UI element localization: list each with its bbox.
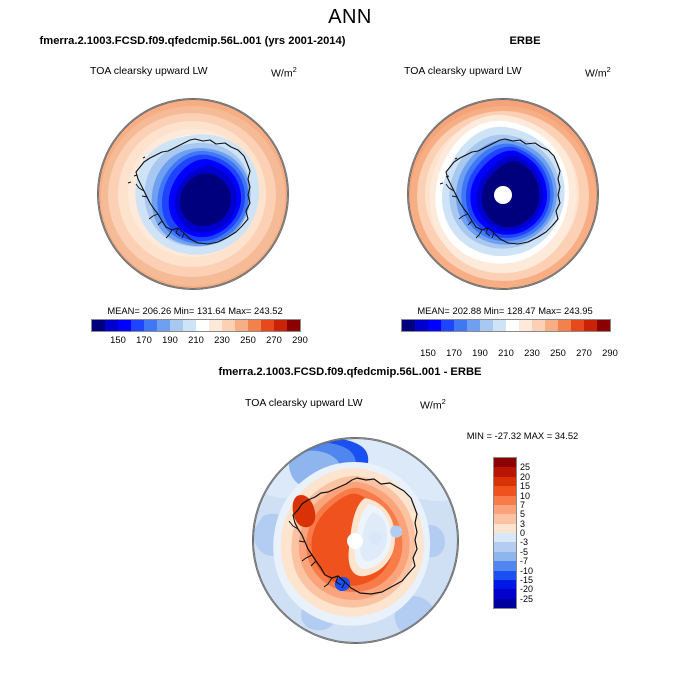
- colorbar-swatch: [441, 320, 454, 331]
- colorbar-swatch: [209, 320, 222, 331]
- units-label-difference: W/m2: [420, 397, 446, 412]
- colorbar-swatch: [274, 320, 287, 331]
- panel-title-difference: fmerra.2.1003.FCSD.f09.qfedcmip.56L.001 …: [0, 366, 700, 378]
- tick-label: 290: [292, 334, 308, 345]
- colorbar-swatch: [494, 580, 516, 589]
- pole-data-gap: [347, 533, 363, 549]
- tick-label: 150: [420, 347, 436, 358]
- tick-label: 170: [136, 334, 152, 345]
- units-text-model: W/m: [271, 68, 293, 80]
- units-exponent-obs: 2: [607, 65, 611, 74]
- panel-title-model: fmerra.2.1003.FCSD.f09.qfedcmip.56L.001 …: [0, 35, 385, 47]
- polar-map-difference[interactable]: [253, 438, 458, 643]
- colorbar-ticks-obs: 150 170 190 210 230 250 270 290: [402, 347, 610, 360]
- colorbar-swatch: [494, 589, 516, 598]
- colorbar-swatch: [261, 320, 274, 331]
- colorbar-swatch: [532, 320, 545, 331]
- stats-difference: MIN = -27.32 MAX = 34.52: [435, 430, 610, 441]
- units-exponent-difference: 2: [442, 397, 446, 406]
- tick-label: 270: [266, 334, 282, 345]
- colorbar-swatch: [494, 542, 516, 551]
- colorbar-swatch: [584, 320, 597, 331]
- variable-label-model: TOA clearsky upward LW: [90, 65, 207, 77]
- units-label-obs: W/m2: [585, 65, 611, 80]
- stats-obs: MEAN= 202.88 Min= 128.47 Max= 243.95: [400, 305, 610, 316]
- colorbar-swatch: [105, 320, 118, 331]
- colorbar-swatch: [558, 320, 571, 331]
- polar-map-model-svg: [98, 99, 288, 289]
- tick-label: 290: [602, 347, 618, 358]
- colorbar-swatch: [480, 320, 493, 331]
- colorbar-swatch: [519, 320, 532, 331]
- colorbar-swatch: [248, 320, 261, 331]
- colorbar-swatch: [428, 320, 441, 331]
- colorbar-swatch: [494, 477, 516, 486]
- main-title: ANN: [0, 6, 700, 29]
- colorbar-swatch: [494, 505, 516, 514]
- tick-label: 270: [576, 347, 592, 358]
- tick-label: 150: [110, 334, 126, 345]
- colorbar-swatch: [493, 320, 506, 331]
- colorbar-swatch: [131, 320, 144, 331]
- tick-label: 230: [214, 334, 230, 345]
- colorbar-swatch: [597, 320, 610, 331]
- colorbar-swatch: [494, 552, 516, 561]
- colorbar-ticks-model: 150 170 190 210 230 250 270 290: [92, 334, 300, 347]
- tick-label: 250: [240, 334, 256, 345]
- colorbar-swatch: [415, 320, 428, 331]
- polar-map-model[interactable]: [98, 99, 288, 289]
- units-text-obs: W/m: [585, 68, 607, 80]
- colorbar-swatch: [494, 533, 516, 542]
- colorbar-swatch: [454, 320, 467, 331]
- colorbar-swatch: [183, 320, 196, 331]
- polar-map-obs-svg: [408, 99, 598, 289]
- colorbar-swatch: [222, 320, 235, 331]
- colorbar-swatch: [494, 561, 516, 570]
- tick-label: 230: [524, 347, 540, 358]
- colorbar-swatch: [92, 320, 105, 331]
- colorbar-swatch: [402, 320, 415, 331]
- tick-label: 210: [498, 347, 514, 358]
- pole-data-gap: [494, 186, 512, 204]
- colorbar-swatch: [196, 320, 209, 331]
- colorbar-swatch: [494, 524, 516, 533]
- colorbar-swatch: [494, 486, 516, 495]
- colorbar-swatch: [494, 599, 516, 608]
- tick-label: 170: [446, 347, 462, 358]
- polar-map-difference-svg: [253, 438, 458, 643]
- colorbar-swatch: [506, 320, 519, 331]
- colorbar-difference-labels: 25 20 15 10 7 5 3 0 -3 -5 -7 -10 -15 -20…: [520, 458, 550, 608]
- colorbar-swatch: [494, 458, 516, 467]
- colorbar-swatch: [494, 514, 516, 523]
- colorbar-swatch: [144, 320, 157, 331]
- units-exponent-model: 2: [293, 65, 297, 74]
- variable-label-difference: TOA clearsky upward LW: [245, 397, 362, 409]
- colorbar-swatch: [467, 320, 480, 331]
- colorbar-swatch: [494, 571, 516, 580]
- tick-label: 250: [550, 347, 566, 358]
- colorbar-swatch: [494, 467, 516, 476]
- colorbar-swatch: [494, 496, 516, 505]
- units-text-difference: W/m: [420, 400, 442, 412]
- tick-label: 210: [188, 334, 204, 345]
- colorbar-swatch: [235, 320, 248, 331]
- colorbar-swatch: [571, 320, 584, 331]
- colorbar-difference[interactable]: [494, 458, 516, 608]
- colorbar-model[interactable]: [92, 320, 300, 331]
- colorbar-swatch: [287, 320, 300, 331]
- colorbar-obs[interactable]: [402, 320, 610, 331]
- tick-label: -25: [520, 594, 533, 604]
- colorbar-swatch: [118, 320, 131, 331]
- units-label-model: W/m2: [271, 65, 297, 80]
- polar-map-obs[interactable]: [408, 99, 598, 289]
- stats-model: MEAN= 206.26 Min= 131.64 Max= 243.52: [90, 305, 300, 316]
- tick-label: 190: [162, 334, 178, 345]
- colorbar-swatch: [545, 320, 558, 331]
- variable-label-obs: TOA clearsky upward LW: [404, 65, 521, 77]
- panel-title-obs: ERBE: [350, 35, 700, 47]
- tick-label: 190: [472, 347, 488, 358]
- colorbar-swatch: [157, 320, 170, 331]
- colorbar-swatch: [170, 320, 183, 331]
